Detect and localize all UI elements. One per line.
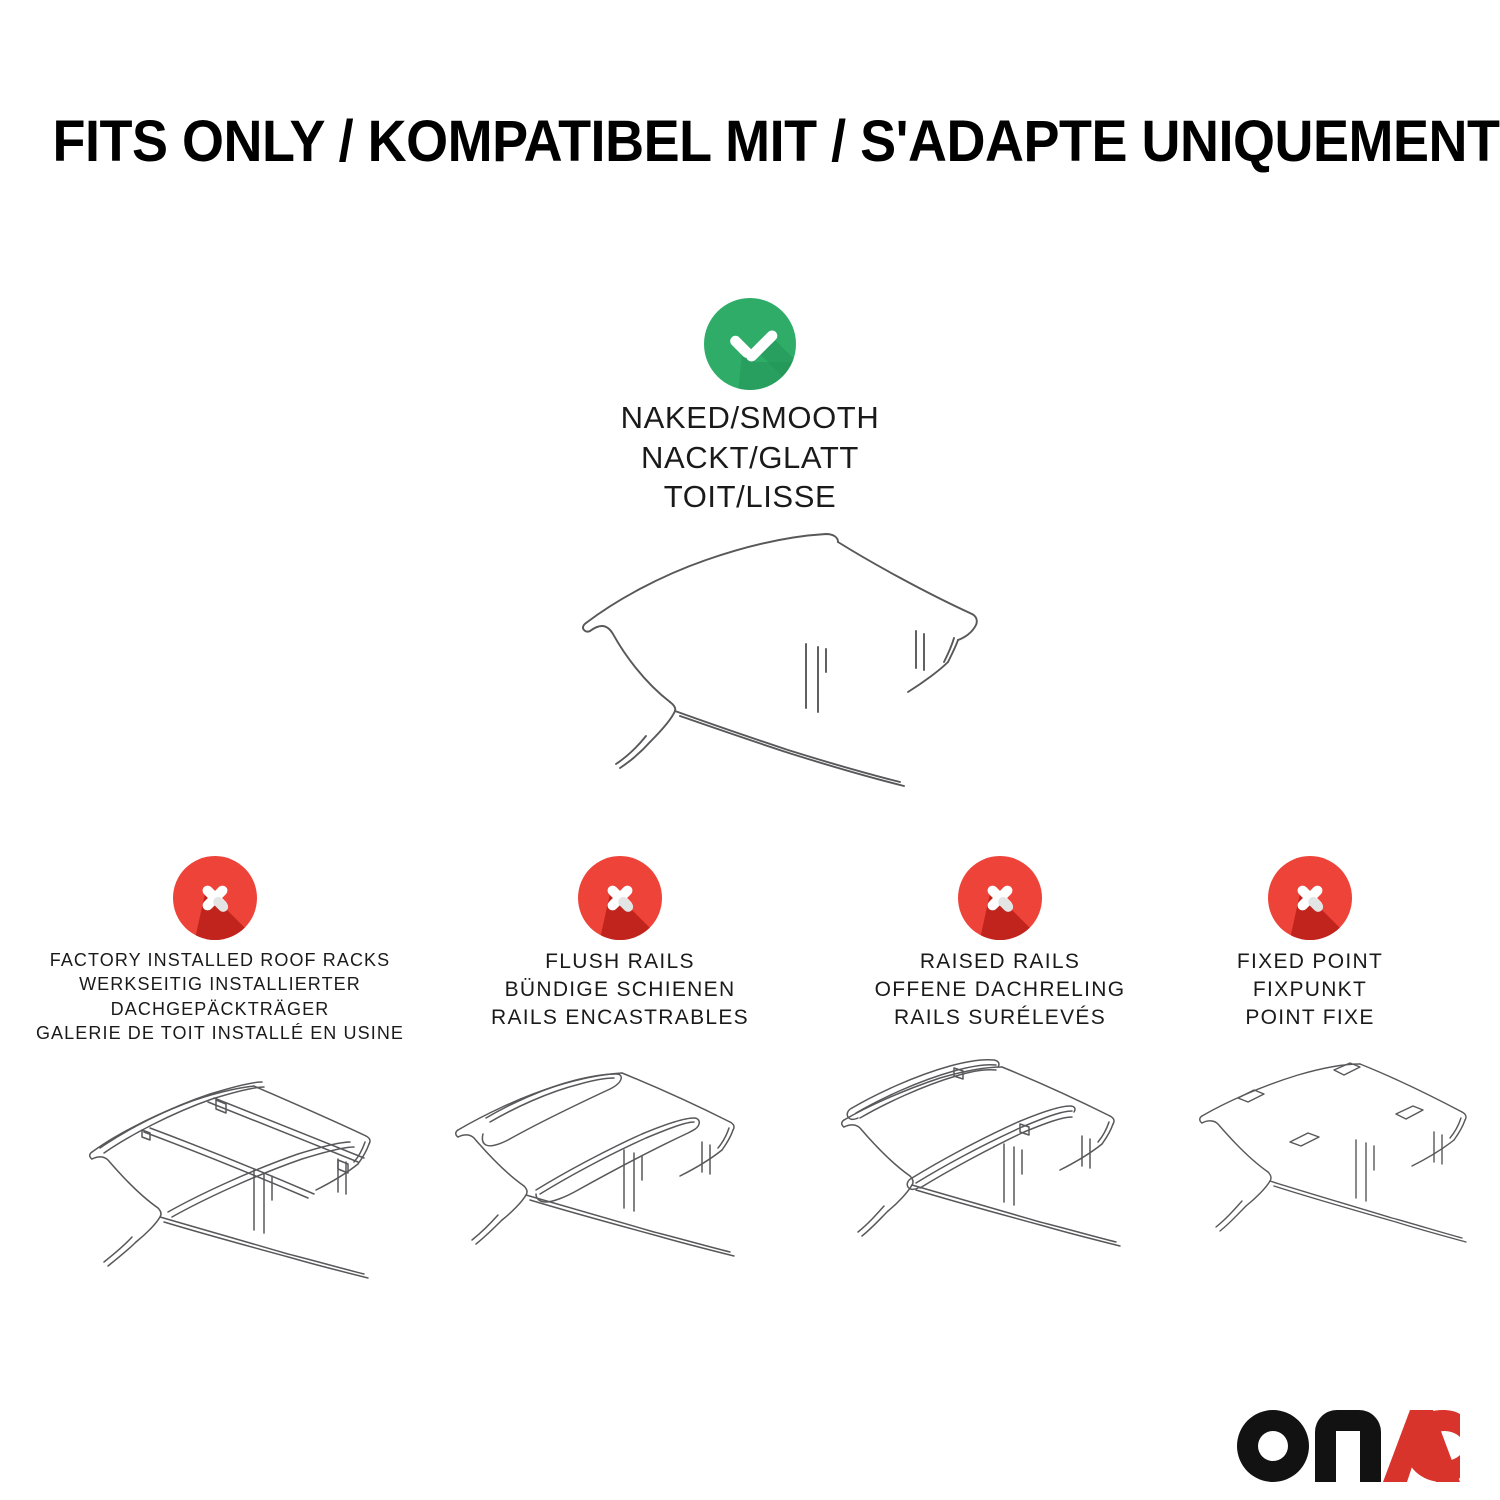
x-circle-icon: [958, 856, 1042, 940]
label-line-1: FACTORY INSTALLED ROOF RACKS: [10, 948, 430, 972]
incompatible-label-raised-rails: RAISED RAILS OFFENE DACHRELING RAILS SUR…: [820, 948, 1180, 1032]
label-line-1: RAISED RAILS: [820, 948, 1180, 976]
label-line-3: RAILS SURÉLEVÉS: [820, 1004, 1180, 1032]
incompatible-label-factory-installed-roof-racks: FACTORY INSTALLED ROOF RACKS WERKSEITIG …: [10, 948, 430, 1046]
incompatible-label-flush-rails: FLUSH RAILS BÜNDIGE SCHIENEN RAILS ENCAS…: [440, 948, 800, 1032]
factory-rack-roof-illustration: [40, 1060, 440, 1280]
compatible-label-line-1: NAKED/SMOOTH: [500, 398, 1000, 438]
smooth-roof-illustration: [520, 520, 1000, 800]
product-fitment-infographic: FITS ONLY / KOMPATIBEL MIT / S'ADAPTE UN…: [0, 0, 1500, 1500]
label-line-1: FIXED POINT: [1160, 948, 1460, 976]
label-line-2: OFFENE DACHRELING: [820, 976, 1180, 1004]
compatible-label-line-2: NACKT/GLATT: [500, 438, 1000, 478]
label-line-2: BÜNDIGE SCHIENEN: [440, 976, 800, 1004]
label-line-3: POINT FIXE: [1160, 1004, 1460, 1032]
logo-letter-o: [1237, 1410, 1309, 1482]
label-line-3: DACHGEPÄCKTRÄGER: [10, 997, 430, 1021]
x-circle-icon: [173, 856, 257, 940]
flush-rails-roof-illustration: [440, 1060, 820, 1280]
compatible-label-line-3: TOIT/LISSE: [500, 477, 1000, 517]
label-line-2: WERKSEITIG INSTALLIERTER: [10, 972, 430, 996]
check-circle-icon: [704, 298, 796, 390]
raised-rails-roof-illustration: [830, 1060, 1210, 1280]
logo-letter-m: [1315, 1410, 1381, 1482]
x-circle-icon: [1268, 856, 1352, 940]
label-line-1: FLUSH RAILS: [440, 948, 800, 976]
x-circle-icon: [578, 856, 662, 940]
page-title: FITS ONLY / KOMPATIBEL MIT / S'ADAPTE UN…: [53, 108, 1448, 175]
incompatible-label-fixed-point: FIXED POINT FIXPUNKT POINT FIXE: [1160, 948, 1460, 1032]
label-line-3: RAILS ENCASTRABLES: [440, 1004, 800, 1032]
label-line-2: FIXPUNKT: [1160, 976, 1460, 1004]
label-line-4: GALERIE DE TOIT INSTALLÉ EN USINE: [10, 1021, 430, 1045]
omac-logo: [1237, 1410, 1462, 1482]
fixed-point-roof-illustration: [1190, 1060, 1500, 1280]
compatible-label: NAKED/SMOOTH NACKT/GLATT TOIT/LISSE: [500, 398, 1000, 517]
